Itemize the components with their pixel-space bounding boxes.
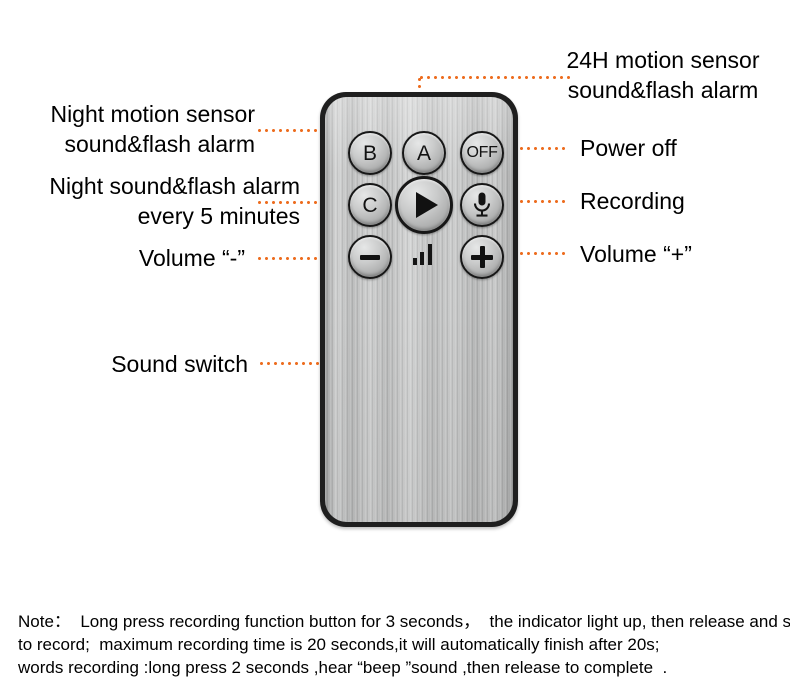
button-a-label: A <box>417 143 431 164</box>
button-mic[interactable] <box>460 183 504 227</box>
button-volume-down[interactable] <box>348 235 392 279</box>
diagram-canvas: B A OFF C <box>0 0 790 691</box>
note-block: Note： Long press recording function butt… <box>18 610 774 679</box>
callout-power-off: Power off <box>580 133 780 163</box>
button-c-label: C <box>362 195 377 216</box>
callout-volume-plus: Volume “+” <box>580 239 780 269</box>
callout-night-sound-alarm: Night sound&flash alarm every 5 minutes <box>10 171 300 231</box>
note-line-1: Note： Long press recording function butt… <box>18 610 774 633</box>
minus-icon <box>360 255 380 260</box>
note-line-2: to record; maximum recording time is 20 … <box>18 633 774 656</box>
button-off-label: OFF <box>466 145 497 161</box>
button-c[interactable]: C <box>348 183 392 227</box>
callout-volume-minus: Volume “-” <box>10 243 245 273</box>
button-volume-up[interactable] <box>460 235 504 279</box>
button-off[interactable]: OFF <box>460 131 504 175</box>
button-play[interactable] <box>395 176 453 234</box>
signal-bars-icon <box>413 243 437 265</box>
microphone-icon <box>472 191 492 219</box>
callout-night-motion-sensor: Night motion sensor sound&flash alarm <box>10 99 255 159</box>
remote-face: B A OFF C <box>325 97 513 522</box>
button-b-label: B <box>363 143 377 164</box>
remote-control-body: B A OFF C <box>320 92 518 527</box>
plus-icon <box>471 246 493 268</box>
note-line-3: words recording :long press 2 seconds ,h… <box>18 656 774 679</box>
button-b[interactable]: B <box>348 131 392 175</box>
callout-recording: Recording <box>580 186 780 216</box>
callout-sound-switch: Sound switch <box>10 349 248 379</box>
button-a[interactable]: A <box>402 131 446 175</box>
play-icon <box>416 192 438 218</box>
callout-24h-motion-sensor: 24H motion sensor sound&flash alarm <box>545 45 781 105</box>
